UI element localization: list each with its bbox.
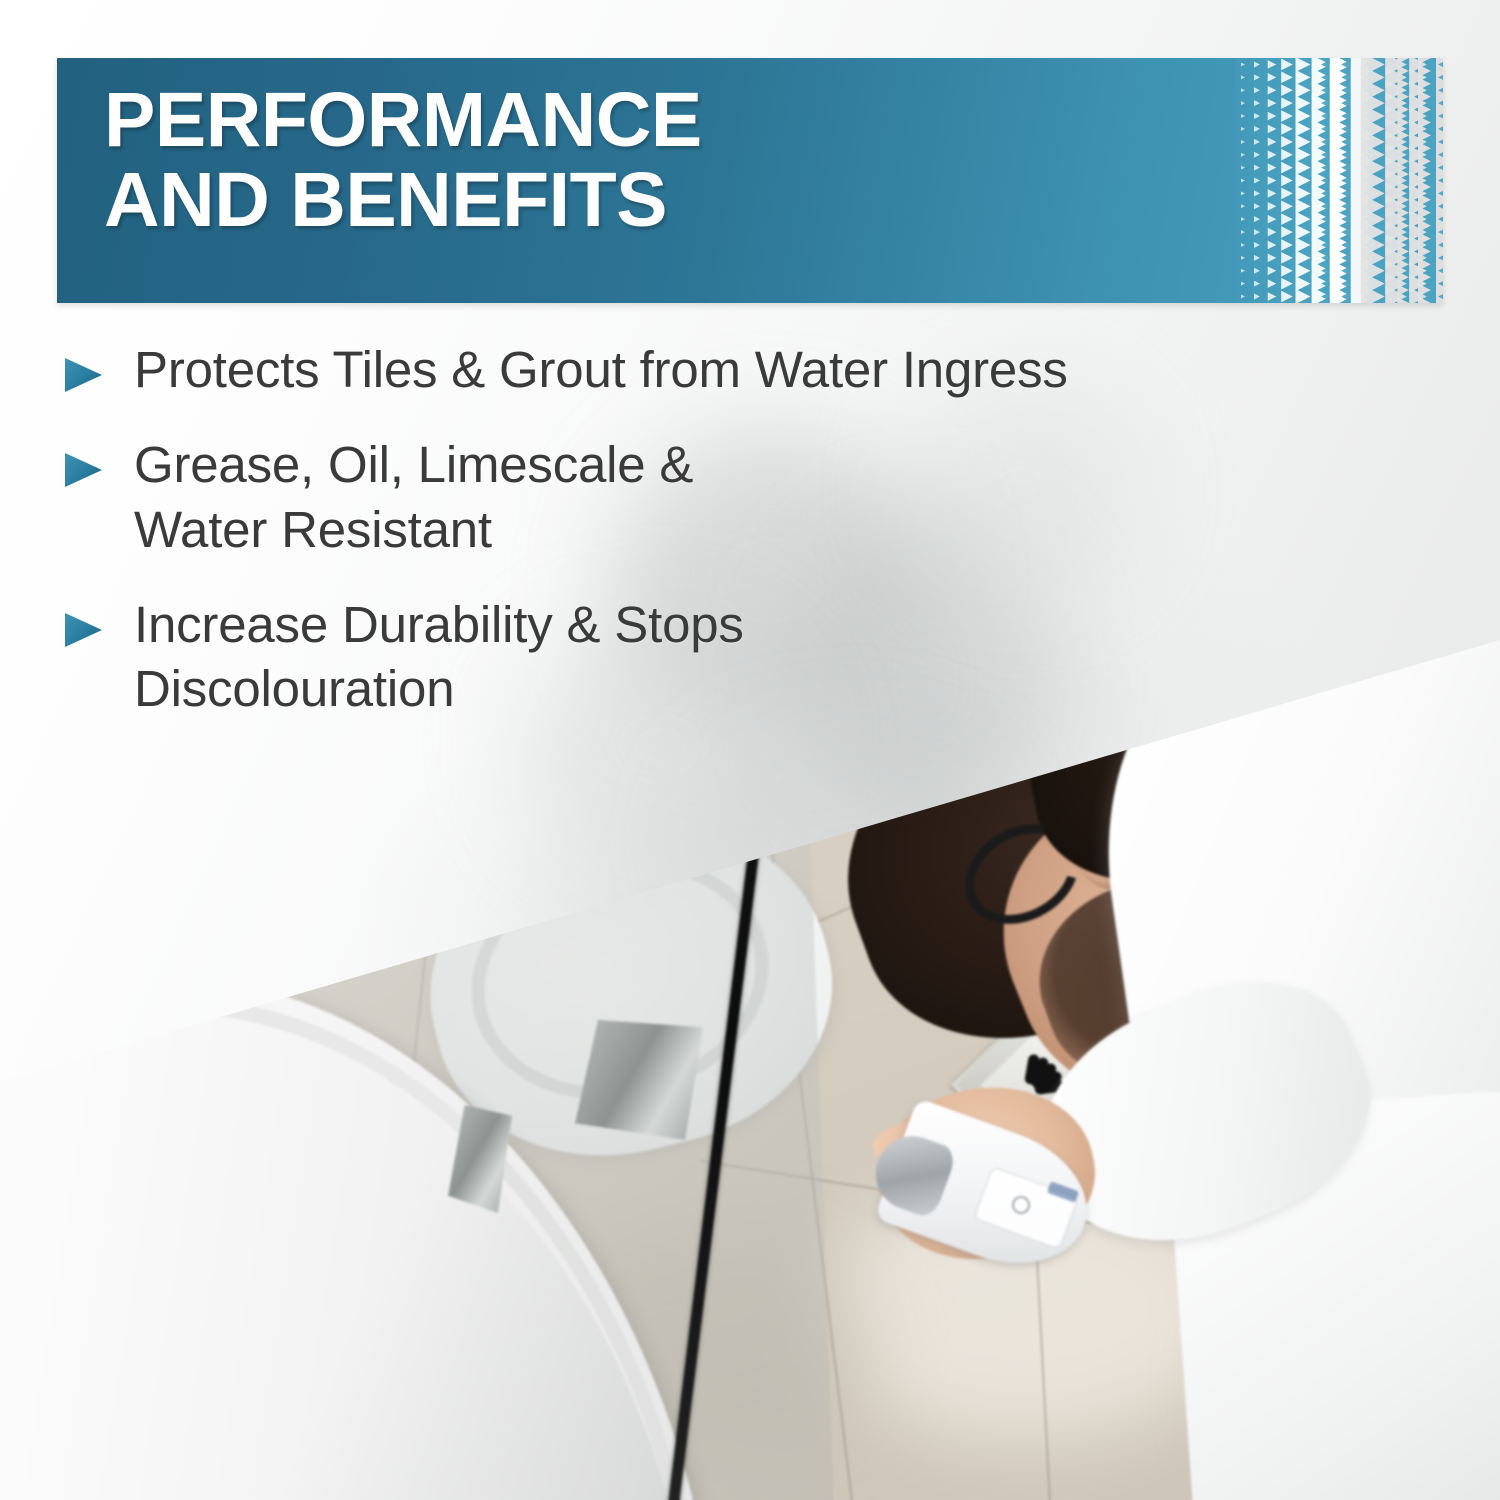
triangle-right-icon	[60, 352, 106, 398]
header-banner: PERFORMANCE AND BENEFITS	[57, 58, 1443, 303]
triangle-right-icon	[60, 447, 106, 493]
benefit-text: Grease, Oil, Limescale & Water Resistant	[134, 433, 693, 562]
list-item: Increase Durability & Stops Discolourati…	[60, 593, 1460, 722]
benefits-list: Protects Tiles & Grout from Water Ingres…	[60, 338, 1460, 752]
benefit-text: Protects Tiles & Grout from Water Ingres…	[134, 338, 1068, 402]
page-title: PERFORMANCE AND BENEFITS	[104, 80, 1184, 240]
infographic-page: PERFORMANCE AND BENEFITS	[0, 0, 1500, 1500]
halftone-triangle-pattern	[1235, 58, 1443, 303]
list-item: Grease, Oil, Limescale & Water Resistant	[60, 433, 1460, 562]
list-item: Protects Tiles & Grout from Water Ingres…	[60, 338, 1460, 402]
benefit-text: Increase Durability & Stops Discolourati…	[134, 593, 744, 722]
chrome-bracket	[575, 1020, 703, 1140]
triangle-right-icon	[60, 607, 106, 653]
